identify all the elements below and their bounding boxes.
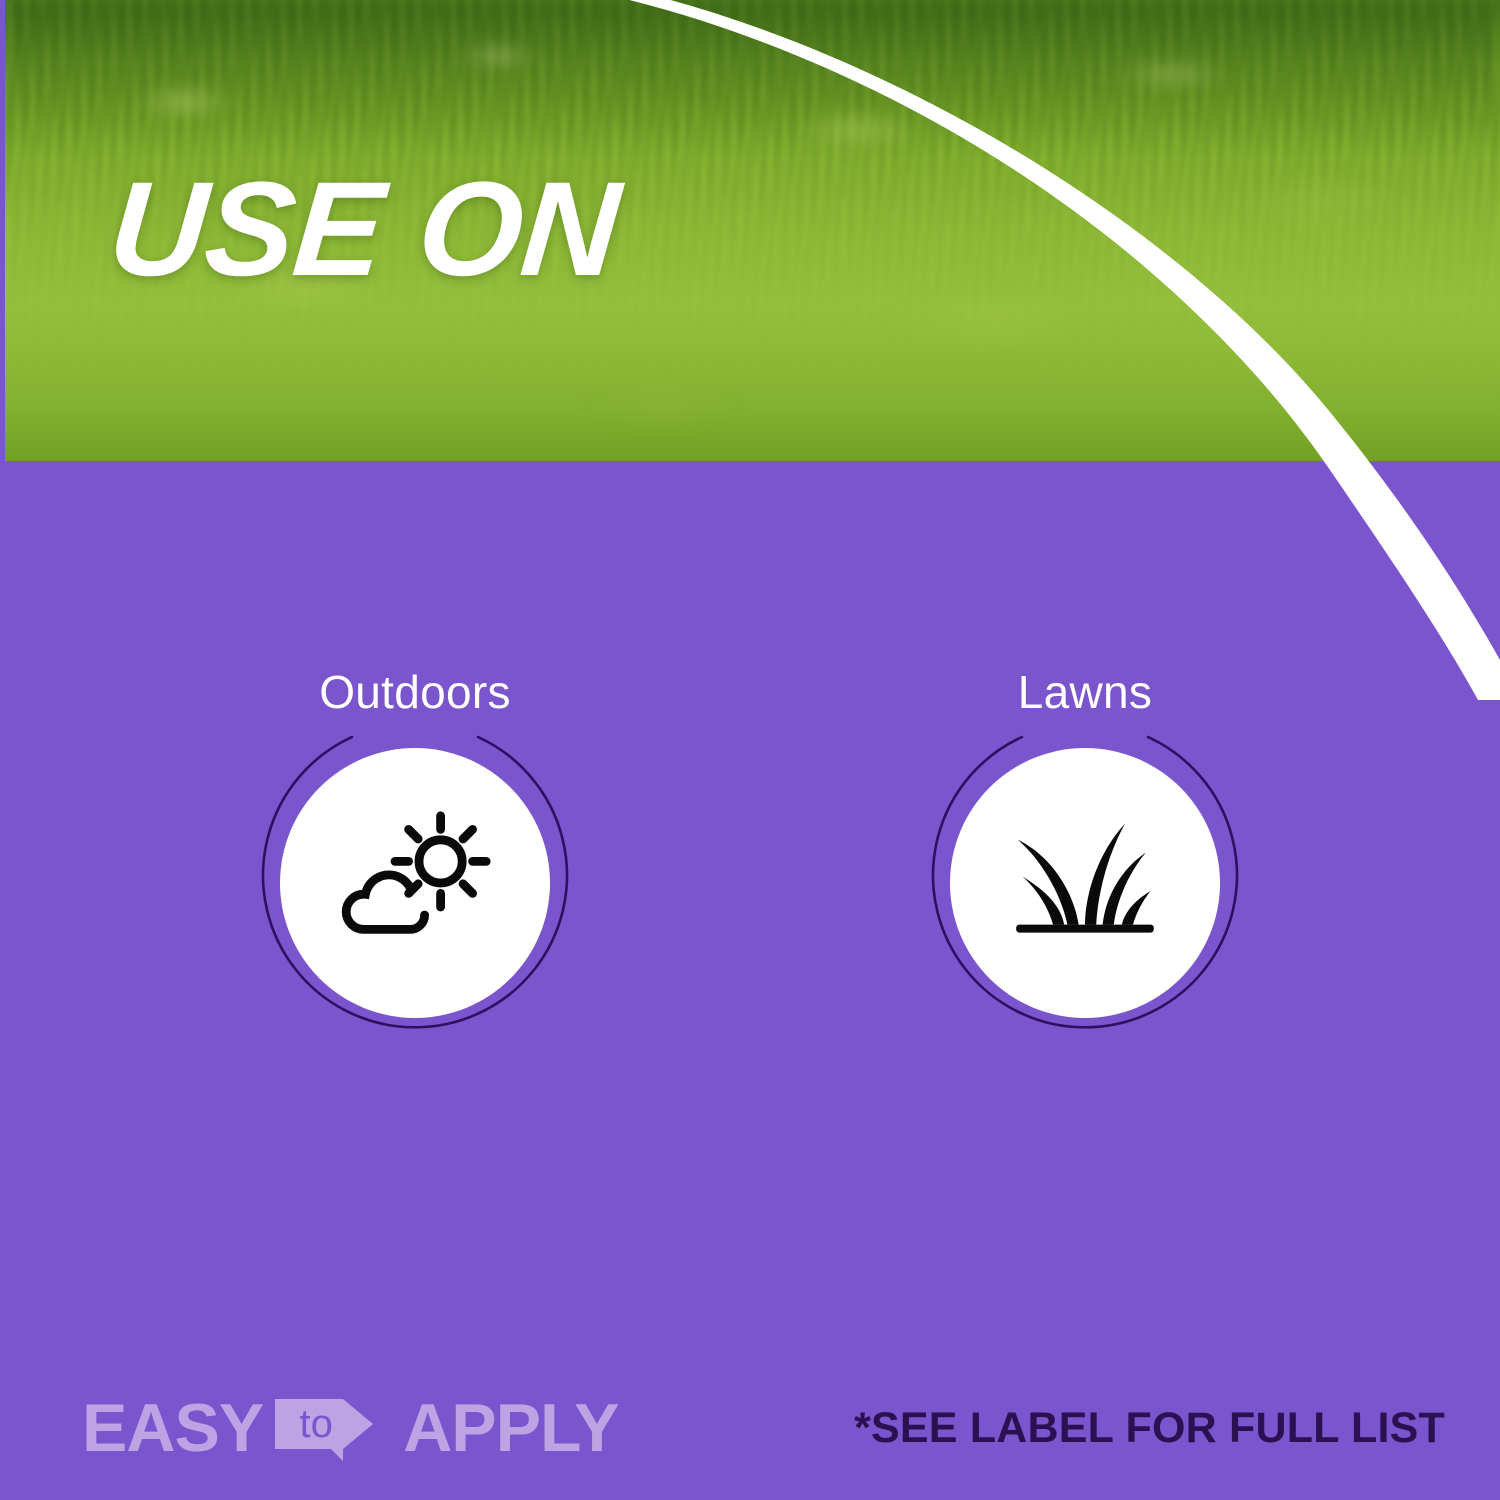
- badge-lawns-disc: [950, 748, 1220, 1018]
- easy-to-apply-logo: EASY to APPLY: [82, 1392, 619, 1464]
- use-on-poster: USE ON Outdoors: [0, 0, 1500, 1500]
- badge-outdoors-disc: [280, 748, 550, 1018]
- badge-outdoors[interactable]: Outdoors: [245, 665, 585, 1065]
- logo-word-apply: APPLY: [403, 1394, 618, 1462]
- use-on-badge-row: Outdoors: [0, 665, 1500, 1065]
- badge-lawns-label: Lawns: [915, 665, 1255, 719]
- logo-word-easy: EASY: [82, 1394, 263, 1462]
- see-label-note: *SEE LABEL FOR FULL LIST: [854, 1404, 1445, 1453]
- badge-outdoors-label: Outdoors: [245, 665, 585, 719]
- right-arrow-badge-icon: to: [275, 1395, 391, 1461]
- grass-photo-shadow: [5, 0, 1500, 150]
- sun-behind-cloud-icon: [335, 803, 495, 963]
- logo-connector-to: to: [283, 1404, 349, 1444]
- badge-lawns[interactable]: Lawns: [915, 665, 1255, 1065]
- page-title: USE ON: [104, 163, 623, 297]
- grass-tuft-icon: [1005, 803, 1165, 963]
